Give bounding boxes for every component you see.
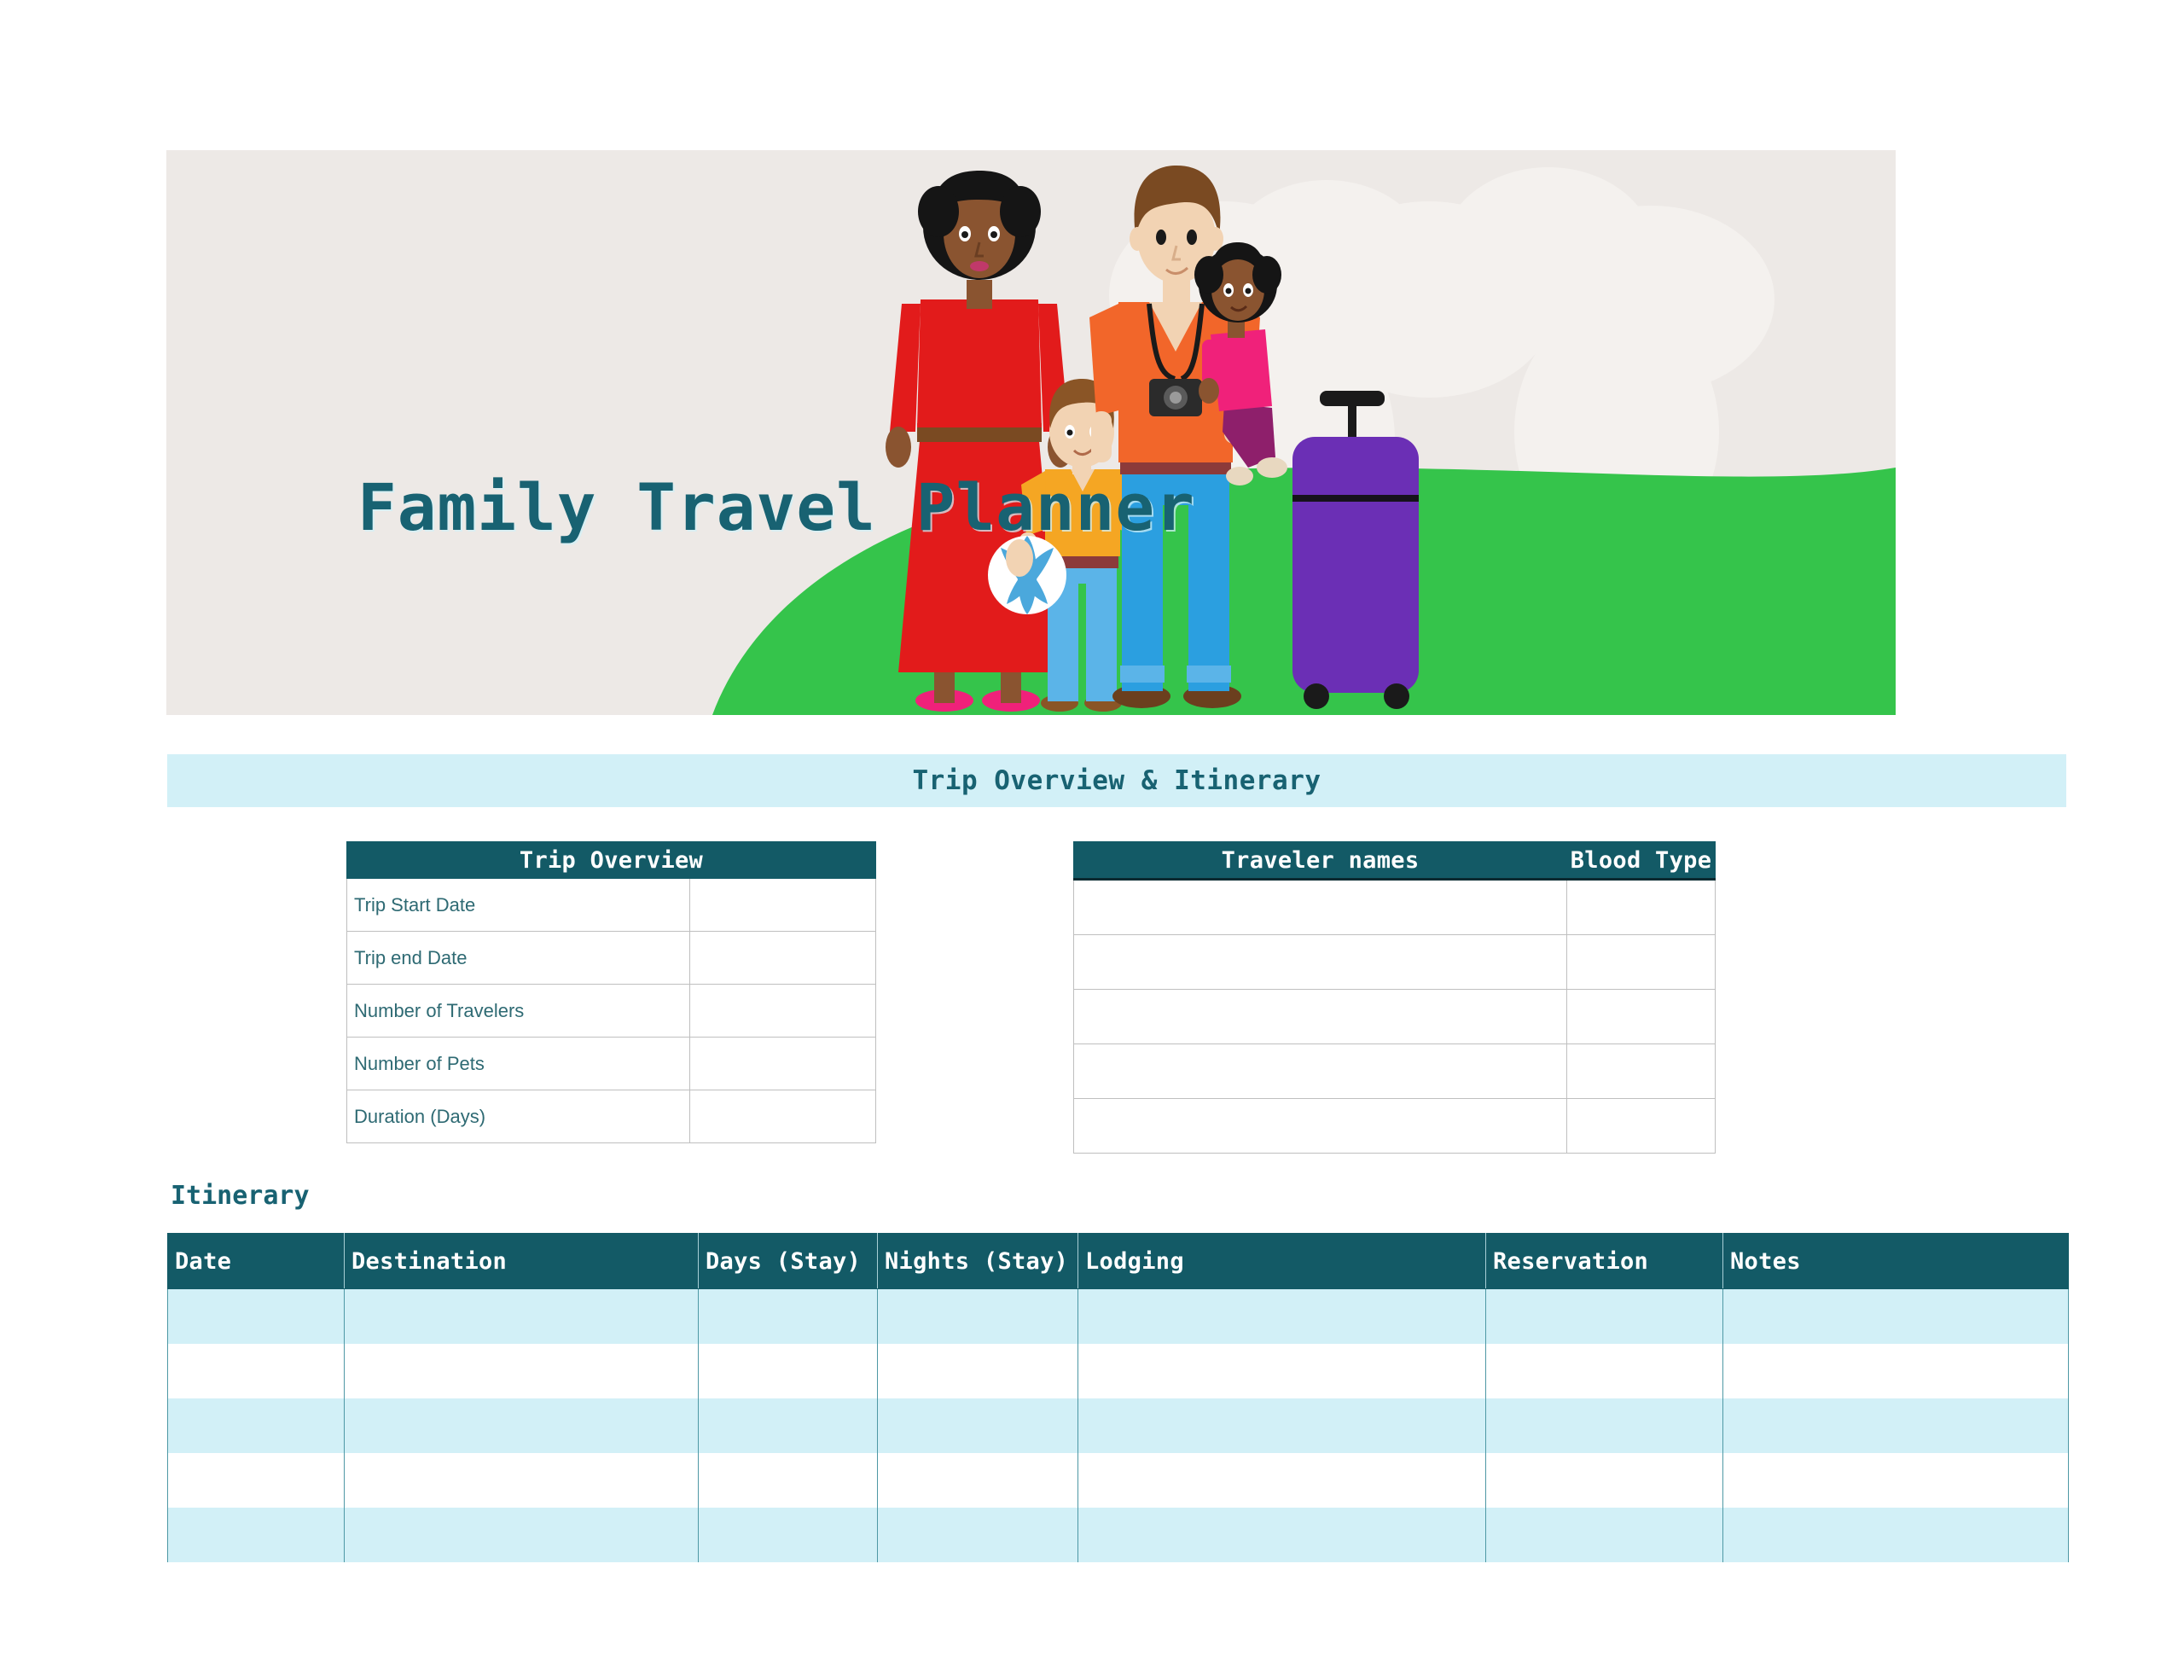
itinerary-header-destination: Destination — [345, 1234, 699, 1289]
itinerary-cell-notes[interactable] — [1723, 1289, 2069, 1345]
itinerary-cell-reservation[interactable] — [1486, 1398, 1723, 1453]
traveler-name-input[interactable] — [1074, 880, 1567, 935]
itinerary-cell-lodging[interactable] — [1078, 1508, 1486, 1562]
section-band-title: Trip Overview & Itinerary — [912, 765, 1321, 796]
number-of-travelers-label: Number of Travelers — [347, 985, 690, 1038]
itinerary-cell-notes[interactable] — [1723, 1398, 2069, 1453]
table-row — [168, 1508, 2069, 1562]
traveler-name-input[interactable] — [1074, 1099, 1567, 1154]
itinerary-cell-notes[interactable] — [1723, 1453, 2069, 1508]
number-of-travelers-input[interactable] — [690, 985, 876, 1038]
itinerary-cell-nights[interactable] — [878, 1508, 1078, 1562]
trip-end-date-input[interactable] — [690, 932, 876, 985]
itinerary-cell-notes[interactable] — [1723, 1344, 2069, 1398]
duration-days-input[interactable] — [690, 1090, 876, 1143]
trip-overview-table: Trip Overview Trip Start Date Trip end D… — [346, 841, 876, 1143]
itinerary-header-nights: Nights (Stay) — [878, 1234, 1078, 1289]
table-row: Number of Pets — [347, 1038, 876, 1090]
section-band: Trip Overview & Itinerary — [167, 754, 2066, 807]
itinerary-cell-days[interactable] — [699, 1398, 878, 1453]
header-banner: Family Travel Planner — [166, 150, 1896, 715]
table-row: Duration (Days) — [347, 1090, 876, 1143]
itinerary-cell-nights[interactable] — [878, 1344, 1078, 1398]
table-row — [1074, 935, 1716, 990]
itinerary-header-date: Date — [168, 1234, 345, 1289]
itinerary-cell-destination[interactable] — [345, 1453, 699, 1508]
table-row — [1074, 1099, 1716, 1154]
blood-type-header: Blood Type — [1567, 842, 1716, 880]
traveler-name-input[interactable] — [1074, 1044, 1567, 1099]
traveler-name-input[interactable] — [1074, 990, 1567, 1044]
blood-type-input[interactable] — [1567, 990, 1716, 1044]
itinerary-cell-days[interactable] — [699, 1453, 878, 1508]
itinerary-header-reservation: Reservation — [1486, 1234, 1723, 1289]
itinerary-cell-nights[interactable] — [878, 1398, 1078, 1453]
suitcase-prop — [1292, 391, 1419, 709]
itinerary-cell-nights[interactable] — [878, 1453, 1078, 1508]
itinerary-cell-date[interactable] — [168, 1398, 345, 1453]
table-row — [1074, 880, 1716, 935]
trip-end-date-label: Trip end Date — [347, 932, 690, 985]
itinerary-cell-date[interactable] — [168, 1289, 345, 1345]
itinerary-header-lodging: Lodging — [1078, 1234, 1486, 1289]
itinerary-header-row: Date Destination Days (Stay) Nights (Sta… — [168, 1234, 2069, 1289]
itinerary-cell-reservation[interactable] — [1486, 1508, 1723, 1562]
duration-days-label: Duration (Days) — [347, 1090, 690, 1143]
traveler-name-input[interactable] — [1074, 935, 1567, 990]
trip-start-date-input[interactable] — [690, 879, 876, 932]
itinerary-cell-destination[interactable] — [345, 1344, 699, 1398]
itinerary-cell-reservation[interactable] — [1486, 1453, 1723, 1508]
table-row — [168, 1344, 2069, 1398]
itinerary-cell-nights[interactable] — [878, 1289, 1078, 1345]
travelers-header-row: Traveler names Blood Type — [1074, 842, 1716, 880]
traveler-names-header: Traveler names — [1074, 842, 1567, 880]
table-row — [168, 1453, 2069, 1508]
table-row: Number of Travelers — [347, 985, 876, 1038]
itinerary-cell-destination[interactable] — [345, 1398, 699, 1453]
table-row — [168, 1289, 2069, 1345]
itinerary-cell-lodging[interactable] — [1078, 1344, 1486, 1398]
family-travel-illustration — [166, 150, 1896, 715]
page-title: Family Travel Planner — [357, 469, 1195, 545]
travelers-table: Traveler names Blood Type — [1073, 841, 1716, 1154]
itinerary-cell-notes[interactable] — [1723, 1508, 2069, 1562]
blood-type-input[interactable] — [1567, 880, 1716, 935]
itinerary-header-days: Days (Stay) — [699, 1234, 878, 1289]
itinerary-cell-lodging[interactable] — [1078, 1289, 1486, 1345]
itinerary-cell-date[interactable] — [168, 1344, 345, 1398]
itinerary-section-label: Itinerary — [171, 1181, 310, 1211]
table-row — [1074, 1044, 1716, 1099]
number-of-pets-label: Number of Pets — [347, 1038, 690, 1090]
blood-type-input[interactable] — [1567, 1044, 1716, 1099]
trip-start-date-label: Trip Start Date — [347, 879, 690, 932]
figure-mother — [886, 171, 1073, 712]
trip-overview-header-row: Trip Overview — [347, 842, 876, 879]
table-row: Trip Start Date — [347, 879, 876, 932]
itinerary-cell-date[interactable] — [168, 1508, 345, 1562]
itinerary-cell-lodging[interactable] — [1078, 1398, 1486, 1453]
itinerary-cell-days[interactable] — [699, 1344, 878, 1398]
blood-type-input[interactable] — [1567, 935, 1716, 990]
itinerary-cell-reservation[interactable] — [1486, 1344, 1723, 1398]
itinerary-cell-days[interactable] — [699, 1289, 878, 1345]
camera-prop — [1149, 379, 1202, 416]
table-row — [168, 1398, 2069, 1453]
table-row: Trip end Date — [347, 932, 876, 985]
itinerary-header-notes: Notes — [1723, 1234, 2069, 1289]
table-row — [1074, 990, 1716, 1044]
trip-overview-header: Trip Overview — [347, 842, 876, 879]
itinerary-cell-destination[interactable] — [345, 1289, 699, 1345]
itinerary-cell-lodging[interactable] — [1078, 1453, 1486, 1508]
itinerary-cell-days[interactable] — [699, 1508, 878, 1562]
itinerary-cell-date[interactable] — [168, 1453, 345, 1508]
number-of-pets-input[interactable] — [690, 1038, 876, 1090]
itinerary-cell-reservation[interactable] — [1486, 1289, 1723, 1345]
blood-type-input[interactable] — [1567, 1099, 1716, 1154]
itinerary-table: Date Destination Days (Stay) Nights (Sta… — [167, 1233, 2069, 1562]
itinerary-cell-destination[interactable] — [345, 1508, 699, 1562]
